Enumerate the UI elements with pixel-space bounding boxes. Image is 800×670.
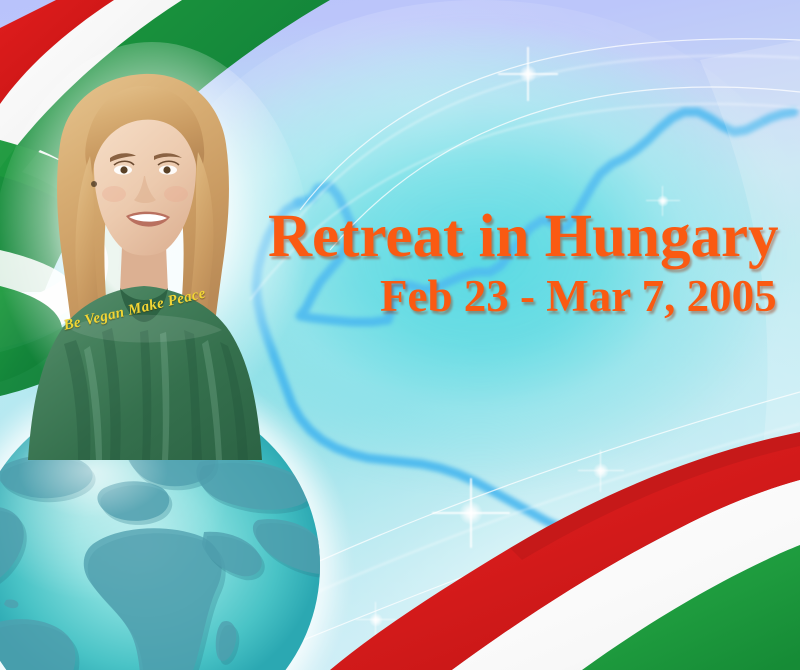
event-dates: Feb 23 - Mar 7, 2005 [380, 272, 788, 322]
page-title: Retreat in Hungary [268, 206, 788, 268]
poster-canvas: Be Vegan Make Peace [0, 0, 800, 670]
headline-block: Retreat in Hungary Feb 23 - Mar 7, 2005 [268, 206, 788, 322]
woman-portrait: Be Vegan Make Peace [16, 60, 286, 460]
